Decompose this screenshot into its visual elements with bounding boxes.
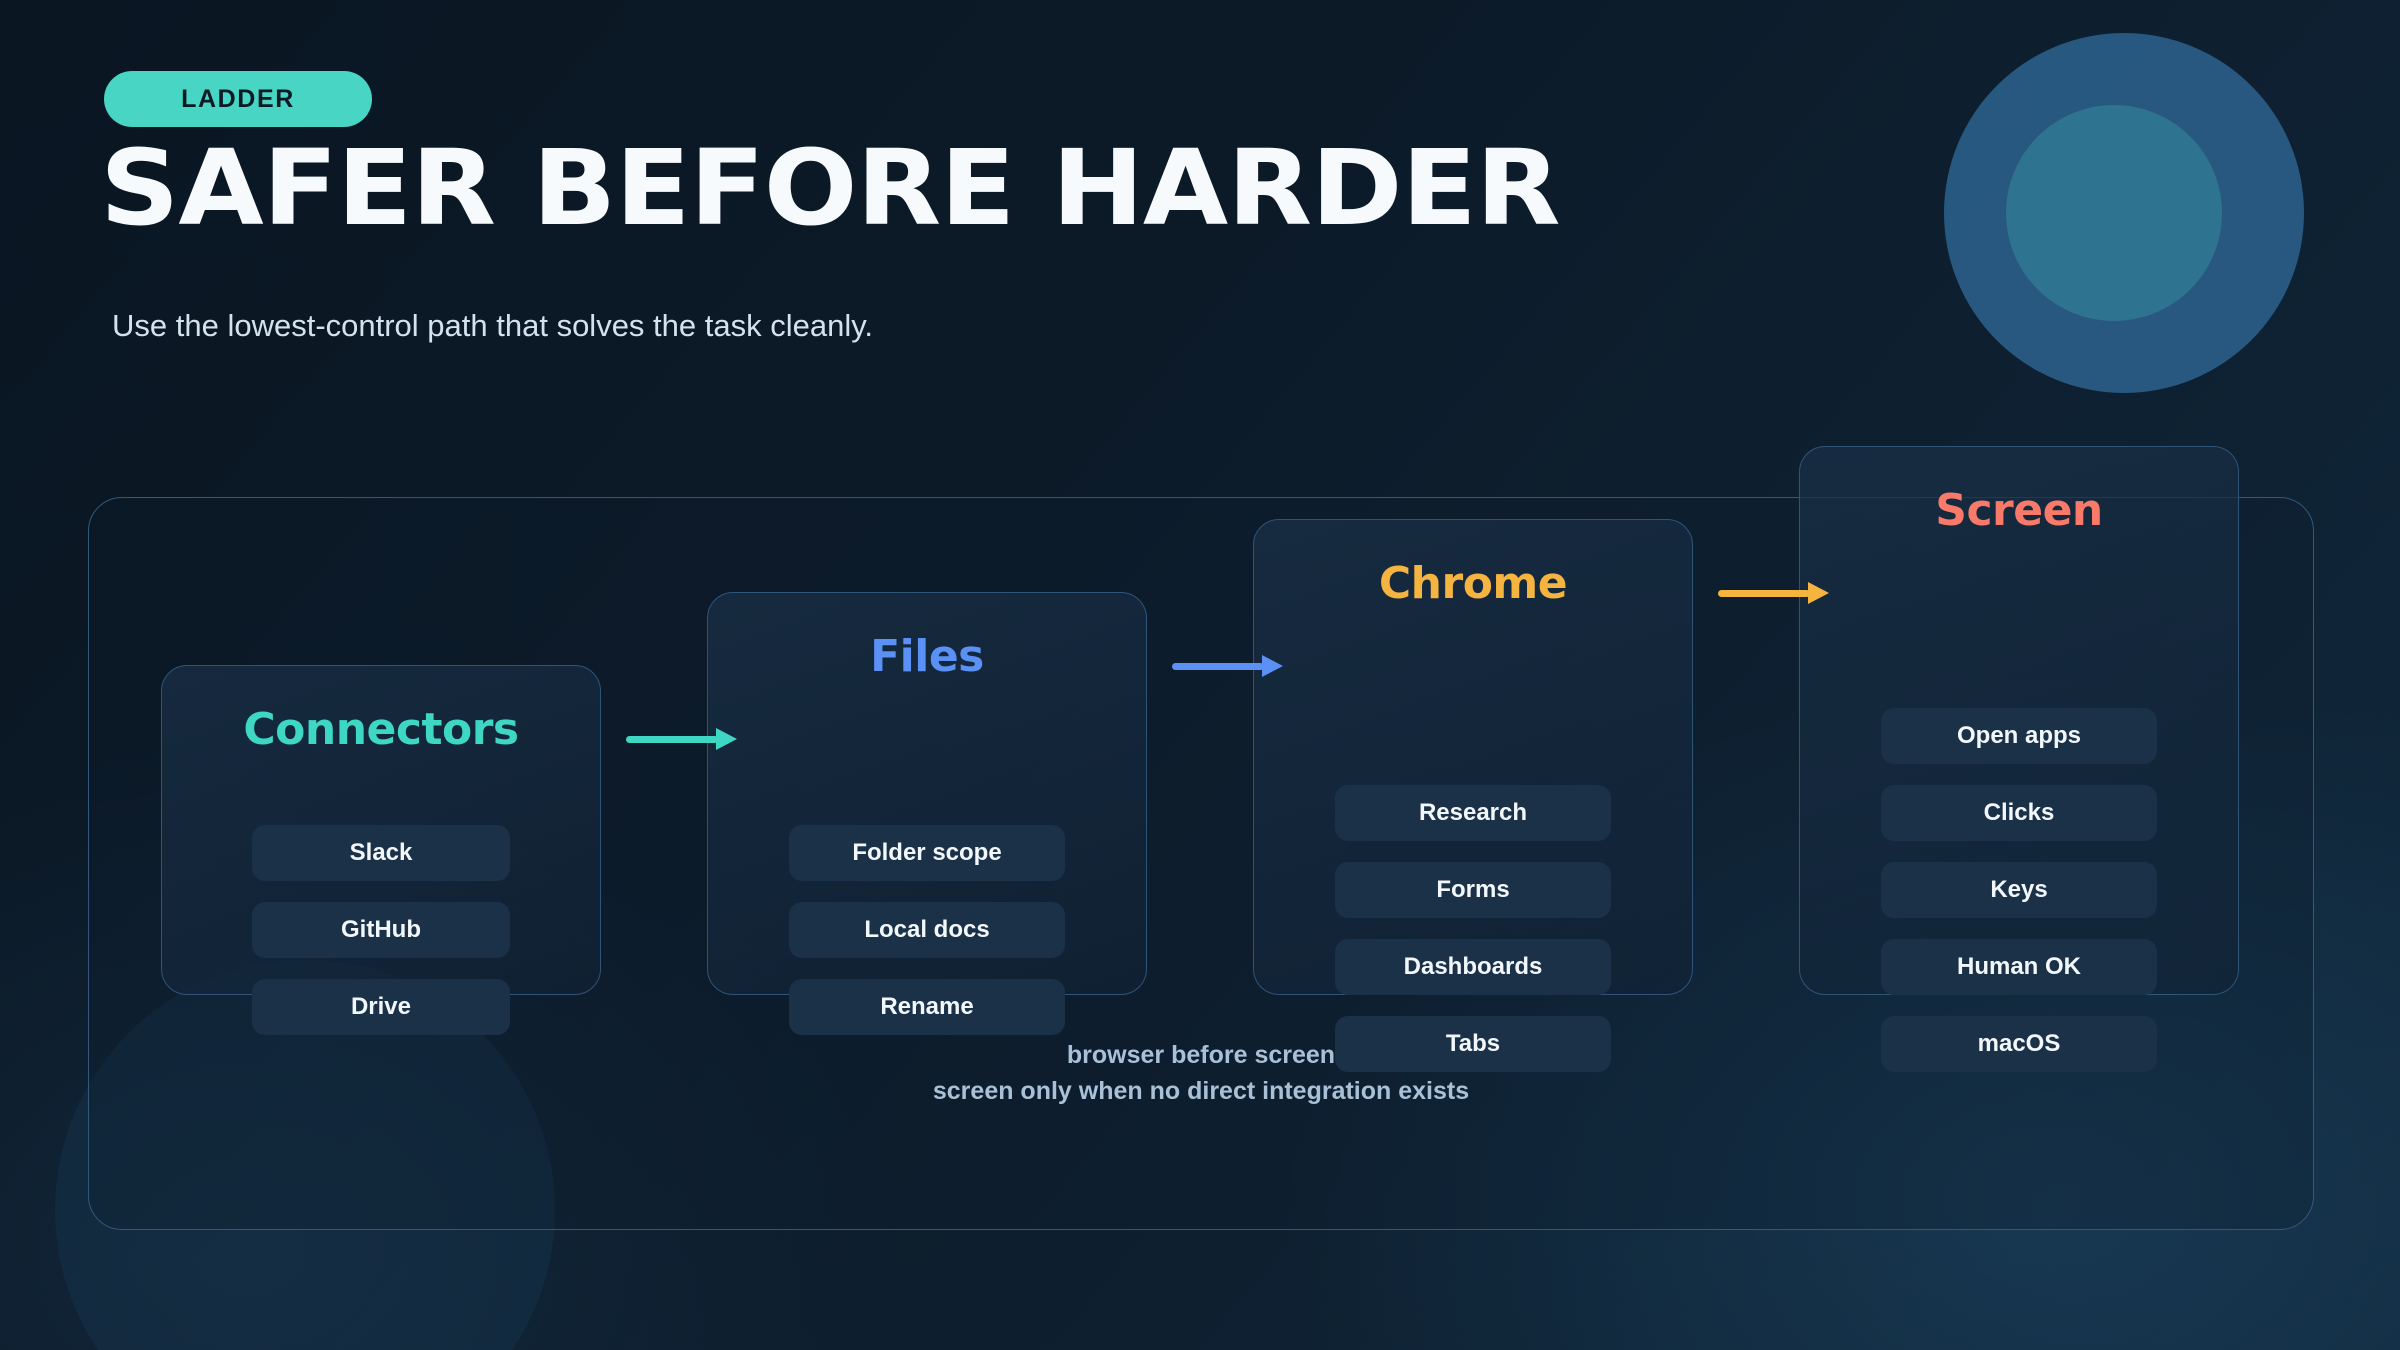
stage-title-files: Files [708, 631, 1146, 682]
capability-pill[interactable]: Local docs [789, 902, 1065, 958]
arrow-head-icon [1262, 655, 1283, 677]
stage-card-chrome: Chrome [1253, 519, 1693, 995]
footer-line-2: screen only when no direct integration e… [89, 1074, 2313, 1110]
capability-pill[interactable]: Human OK [1881, 939, 2157, 995]
arrow-shaft [1718, 590, 1810, 597]
capability-pill[interactable]: GitHub [252, 902, 510, 958]
arrow-shaft [626, 736, 718, 743]
capability-pill[interactable]: Slack [252, 825, 510, 881]
flow-arrow-files-to-chrome [1172, 655, 1282, 677]
capability-pill[interactable]: Dashboards [1335, 939, 1611, 995]
capability-pill[interactable]: Forms [1335, 862, 1611, 918]
panel-footer: browser before screenscreen only when no… [89, 1038, 2313, 1109]
page-subtitle: Use the lowest-control path that solves … [112, 308, 873, 344]
capability-pill[interactable]: Clicks [1881, 785, 2157, 841]
capability-pill[interactable]: Folder scope [789, 825, 1065, 881]
page-title: SAFER BEFORE HARDER [100, 132, 1560, 244]
flow-arrow-connectors-to-files [626, 728, 736, 750]
flow-arrow-chrome-to-screen [1718, 582, 1828, 604]
stage-card-row: ConnectorsSlackGitHubDriveFilesFolder sc… [89, 498, 2313, 1229]
stage-title-connectors: Connectors [162, 704, 600, 755]
stage-title-chrome: Chrome [1254, 558, 1692, 609]
arrow-head-icon [1808, 582, 1829, 604]
capability-pill[interactable]: Rename [789, 979, 1065, 1035]
arrow-shaft [1172, 663, 1264, 670]
stage-title-screen: Screen [1800, 485, 2238, 536]
arrow-head-icon [716, 728, 737, 750]
slide-canvas: LADDER SAFER BEFORE HARDER Use the lowes… [0, 0, 2400, 1350]
ladder-badge: LADDER [104, 71, 372, 127]
capability-pill[interactable]: Open apps [1881, 708, 2157, 764]
capability-pill[interactable]: Drive [252, 979, 510, 1035]
decorative-circle-inner [2006, 105, 2222, 321]
capability-pill[interactable]: Research [1335, 785, 1611, 841]
ladder-panel: ConnectorsSlackGitHubDriveFilesFolder sc… [88, 497, 2314, 1230]
capability-pill[interactable]: Keys [1881, 862, 2157, 918]
footer-line-1: browser before screen [89, 1038, 2313, 1074]
